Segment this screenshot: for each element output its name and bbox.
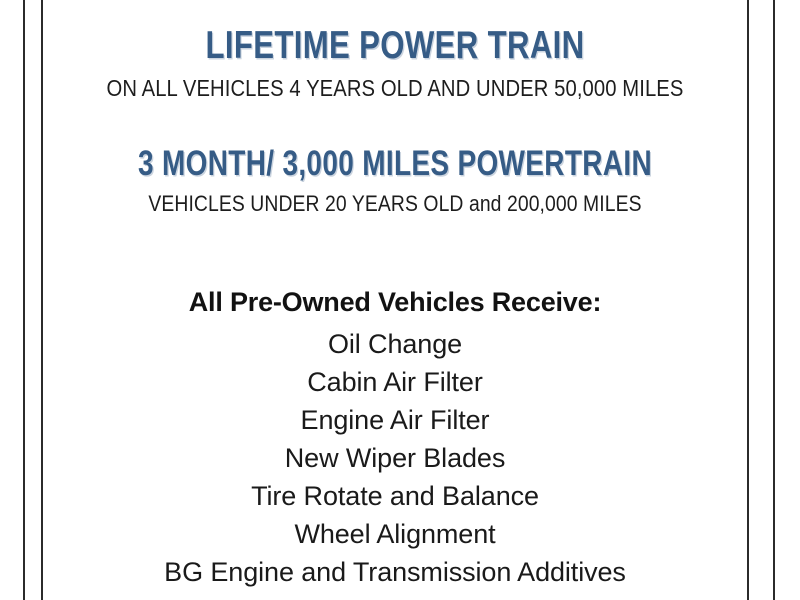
offer-subline-3month-powertrain: VEHICLES UNDER 20 YEARS OLD and 200,000 … bbox=[85, 192, 705, 216]
offer-lifetime-powertrain: LIFETIME POWER TRAIN ON ALL VEHICLES 4 Y… bbox=[43, 26, 747, 101]
service-item-wiper-blades: New Wiper Blades bbox=[43, 439, 747, 477]
services-title: All Pre-Owned Vehicles Receive: bbox=[43, 289, 747, 316]
offer-subline-lifetime-powertrain: ON ALL VEHICLES 4 YEARS OLD AND UNDER 50… bbox=[85, 76, 705, 101]
offer-headline-3month-powertrain: 3 MONTH/ 3,000 MILES POWERTRAIN bbox=[113, 146, 676, 181]
flyer-content: LIFETIME POWER TRAIN ON ALL VEHICLES 4 Y… bbox=[43, 0, 747, 600]
service-item-tire-rotate: Tire Rotate and Balance bbox=[43, 477, 747, 515]
offer-3month-powertrain: 3 MONTH/ 3,000 MILES POWERTRAIN VEHICLES… bbox=[43, 146, 747, 216]
service-item-engine-air-filter: Engine Air Filter bbox=[43, 401, 747, 439]
frame-rule-right-inner bbox=[747, 0, 749, 600]
frame-rule-left-outer bbox=[23, 0, 25, 600]
frame-rule-right-outer bbox=[773, 0, 775, 600]
services-section: All Pre-Owned Vehicles Receive: Oil Chan… bbox=[43, 289, 747, 591]
offer-headline-lifetime-powertrain: LIFETIME POWER TRAIN bbox=[113, 26, 676, 65]
service-item-oil-change: Oil Change bbox=[43, 325, 747, 363]
service-item-bg-additives: BG Engine and Transmission Additives bbox=[43, 553, 747, 591]
service-item-wheel-alignment: Wheel Alignment bbox=[43, 515, 747, 553]
service-item-cabin-air-filter: Cabin Air Filter bbox=[43, 363, 747, 401]
services-list: Oil Change Cabin Air Filter Engine Air F… bbox=[43, 325, 747, 591]
